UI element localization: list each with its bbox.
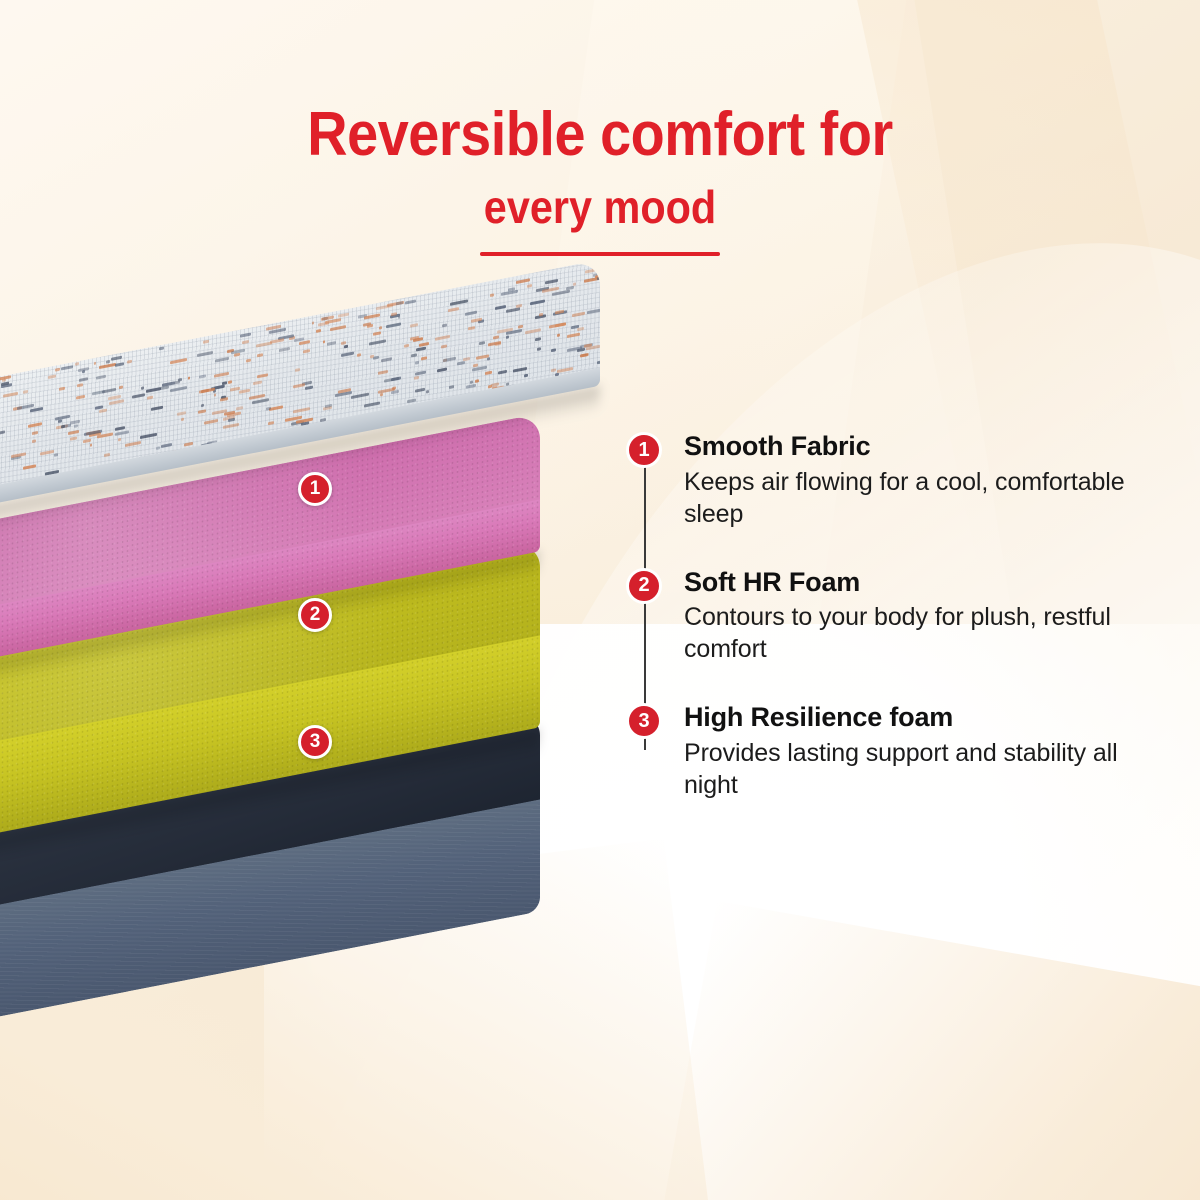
fabric-dot: [411, 353, 417, 357]
fabric-dot: [94, 362, 96, 365]
fabric-dot: [220, 397, 228, 402]
fabric-dot: [435, 335, 450, 341]
fabric-dot: [170, 386, 187, 392]
fabric-dot: [203, 339, 208, 343]
fabric-dot: [587, 308, 600, 314]
fabric-dot: [3, 392, 18, 398]
fabric-dot: [115, 426, 124, 431]
fabric-dot: [115, 430, 129, 436]
fabric-dot: [381, 357, 393, 362]
feature-description-3: Provides lasting support and stability a…: [684, 737, 1166, 801]
fabric-dot: [426, 390, 430, 394]
feature-item-smooth-fabric: 1 Smooth Fabric Keeps air flowing for a …: [626, 432, 1166, 530]
fabric-dot: [40, 450, 54, 456]
fabric-dot: [223, 423, 239, 429]
fabric-dot: [573, 282, 576, 286]
fabric-dot: [161, 443, 172, 448]
fabric-dot: [577, 326, 584, 330]
fabric-dot: [473, 363, 478, 367]
fabric-dot: [413, 337, 423, 342]
fabric-dot: [396, 301, 402, 305]
fabric-dot: [414, 376, 420, 380]
fabric-dot: [201, 403, 204, 407]
fabric-dot: [443, 357, 456, 362]
page-title-line-2: every mood: [60, 184, 1140, 230]
feature-description-2: Contours to your body for plush, restful…: [684, 601, 1166, 665]
fabric-dot: [55, 368, 60, 372]
fabric-dot: [0, 431, 5, 437]
fabric-dot: [421, 356, 427, 360]
fabric-dot: [391, 389, 399, 394]
fabric-dot: [256, 341, 272, 347]
fabric-dot: [70, 437, 76, 441]
fabric-dot: [141, 386, 144, 390]
fabric-dot: [513, 366, 527, 372]
fabric-dot: [279, 347, 290, 352]
fabric-dot: [530, 299, 545, 305]
image-badge-1[interactable]: 1: [298, 472, 332, 506]
fabric-dot: [468, 326, 475, 330]
fabric-dot: [68, 430, 79, 435]
fabric-dot: [99, 409, 107, 414]
fabric-dot: [228, 381, 231, 385]
fabric-dot: [125, 441, 141, 447]
fabric-dot: [506, 335, 509, 339]
fabric-dot: [242, 340, 250, 345]
fabric-dot: [228, 417, 235, 421]
fabric-dot: [535, 337, 541, 341]
fabric-dot: [295, 368, 299, 372]
fabric-dot: [416, 347, 426, 352]
fabric-dot: [184, 441, 192, 446]
fabric-dot: [257, 353, 263, 357]
fabric-dot: [214, 372, 229, 378]
fabric-dot: [293, 407, 310, 413]
poster-header: Reversible comfort for every mood: [0, 104, 1200, 256]
fabric-dot: [23, 390, 28, 394]
fabric-dot: [79, 378, 87, 383]
fabric-dot: [59, 387, 65, 391]
fabric-dot: [357, 353, 361, 357]
fabric-dot: [572, 311, 585, 317]
fabric-dot: [545, 279, 559, 285]
fabric-dot: [54, 453, 58, 457]
fabric-dot: [450, 299, 468, 305]
fabric-dot: [197, 351, 213, 357]
fabric-dot: [327, 341, 336, 346]
fabric-dot: [61, 366, 73, 371]
fabric-dot: [379, 326, 382, 330]
fabric-dot: [253, 381, 262, 386]
fabric-dot: [316, 328, 321, 332]
fabric-dot: [111, 355, 122, 360]
fabric-dot: [236, 406, 243, 410]
fabric-dot: [240, 333, 251, 338]
fabric-dot: [92, 390, 105, 395]
fabric-dot: [140, 433, 156, 439]
fabric-dot: [77, 383, 83, 387]
fabric-dot: [106, 360, 109, 364]
fabric-dot: [410, 323, 418, 328]
fabric-dot: [151, 405, 164, 410]
fabric-dot: [74, 424, 79, 428]
fabric-dot: [442, 324, 447, 328]
fabric-dot: [109, 399, 123, 405]
poster-canvas: Reversible comfort for every mood: [0, 0, 1200, 1200]
fabric-dot: [405, 299, 416, 304]
fabric-dot: [147, 396, 153, 400]
fabric-dot: [132, 393, 146, 399]
fabric-dot: [303, 349, 309, 353]
fabric-dot: [338, 313, 349, 318]
fabric-dot: [214, 394, 216, 397]
fabric-dot: [159, 347, 164, 351]
fabric-dot: [398, 316, 400, 319]
fabric-dot: [493, 336, 499, 340]
fabric-dot: [378, 370, 388, 375]
fabric-dot: [344, 345, 348, 349]
fabric-dot: [239, 389, 250, 394]
fabric-dot: [437, 367, 447, 372]
fabric-dot: [448, 308, 459, 313]
fabric-dot: [373, 331, 382, 336]
fabric-dot: [32, 431, 38, 435]
fabric-dot: [215, 357, 229, 363]
fabric-dot: [457, 361, 466, 366]
fabric-dot: [48, 374, 56, 379]
fabric-dot: [90, 444, 92, 447]
fabric-dot: [177, 411, 186, 416]
fabric-dot: [479, 341, 484, 345]
fabric-dot: [293, 383, 305, 388]
feature-item-high-resilience-foam: 3 High Resilience foam Provides lasting …: [626, 703, 1166, 801]
fabric-dot: [181, 418, 183, 421]
feature-badge-2[interactable]: 2: [626, 568, 662, 604]
fabric-dot: [391, 377, 401, 382]
fabric-dot: [380, 393, 383, 397]
fabric-dot: [146, 388, 161, 394]
fabric-dot: [369, 340, 386, 346]
fabric-dot: [75, 362, 78, 366]
feature-badge-3[interactable]: 3: [626, 703, 662, 739]
fabric-dot: [415, 371, 426, 376]
fabric-dot: [386, 322, 401, 328]
fabric-dot: [495, 342, 502, 346]
feature-description-1: Keeps air flowing for a cool, comfortabl…: [684, 466, 1166, 530]
feature-badge-1[interactable]: 1: [626, 432, 662, 468]
fabric-dot: [230, 387, 239, 392]
feature-title-1: Smooth Fabric: [684, 432, 1166, 462]
fabric-dot: [32, 439, 36, 443]
fabric-dot: [23, 464, 35, 469]
fabric-dot: [351, 393, 369, 399]
fabric-dot: [341, 351, 354, 357]
fabric-dot: [99, 363, 116, 369]
fabric-dot: [537, 347, 541, 351]
fabric-dot: [198, 409, 207, 414]
fabric-dot: [475, 379, 479, 383]
fabric-dot: [170, 357, 187, 363]
fabric-dot: [551, 369, 556, 373]
fabric-dot: [472, 366, 487, 372]
fabric-dot: [30, 407, 43, 413]
fabric-dot: [585, 268, 595, 273]
feature-title-2: Soft HR Foam: [684, 568, 1166, 598]
fabric-dot: [305, 385, 313, 390]
fabric-dot: [246, 358, 251, 362]
fabric-dot: [551, 348, 557, 352]
fabric-dot: [156, 447, 160, 451]
fabric-dot: [567, 333, 579, 338]
fabric-dot: [524, 374, 528, 378]
fabric-dot: [527, 284, 532, 288]
fabric-dot: [204, 419, 219, 425]
fabric-dot: [441, 344, 447, 348]
fabric-dot: [28, 422, 42, 428]
fabric-dot: [119, 385, 123, 389]
feature-item-soft-hr-foam: 2 Soft HR Foam Contours to your body for…: [626, 568, 1166, 666]
image-badge-2[interactable]: 2: [298, 598, 332, 632]
fabric-dot: [485, 371, 492, 375]
fabric-dot: [566, 285, 574, 290]
fabric-dot: [449, 385, 454, 389]
fabric-dot: [104, 453, 109, 457]
page-title-line-1: Reversible comfort for: [60, 104, 1140, 166]
fabric-dot: [269, 406, 283, 412]
fabric-dot: [257, 373, 268, 378]
mattress-layer-soft-hr-foam: [0, 530, 540, 626]
fabric-dot: [552, 290, 569, 296]
fabric-dot: [415, 387, 426, 392]
fabric-dot: [55, 414, 71, 420]
fabric-dot: [1, 383, 12, 388]
fabric-dot: [83, 439, 91, 444]
fabric-dot: [76, 395, 85, 400]
fabric-dot: [364, 401, 380, 407]
fabric-dot: [525, 328, 541, 334]
fabric-dot: [498, 370, 508, 375]
fabric-dot: [415, 361, 419, 365]
feature-title-3: High Resilience foam: [684, 703, 1166, 733]
fabric-dot: [495, 304, 507, 309]
fabric-dot: [58, 419, 62, 423]
fabric-dot: [199, 374, 207, 378]
fabric-dot: [115, 362, 123, 367]
fabric-dot: [466, 384, 476, 389]
mattress-exploded-diagram: 1 2 3: [0, 380, 660, 1060]
fabric-dot: [373, 355, 379, 359]
fabric-dot: [557, 333, 560, 337]
fabric-dot: [580, 353, 588, 357]
fabric-dot: [555, 322, 566, 327]
fabric-dot: [404, 344, 409, 348]
title-underline-rule: [480, 252, 720, 256]
feature-list: 1 Smooth Fabric Keeps air flowing for a …: [626, 432, 1166, 801]
fabric-dot: [506, 307, 521, 313]
fabric-dot: [118, 438, 121, 442]
fabric-dot: [597, 359, 600, 365]
image-badge-3[interactable]: 3: [298, 725, 332, 759]
fabric-dot: [323, 340, 325, 343]
fabric-dot: [188, 376, 191, 380]
fabric-dot: [516, 278, 530, 284]
fabric-dot: [96, 375, 107, 380]
fabric-dot: [312, 321, 314, 324]
fabric-dot: [330, 325, 347, 331]
fabric-dot: [268, 421, 274, 425]
fabric-dot: [465, 311, 477, 316]
mattress-layer-high-resilience-foam: [0, 658, 540, 762]
fabric-dot: [490, 294, 494, 298]
fabric-dot: [127, 360, 132, 364]
